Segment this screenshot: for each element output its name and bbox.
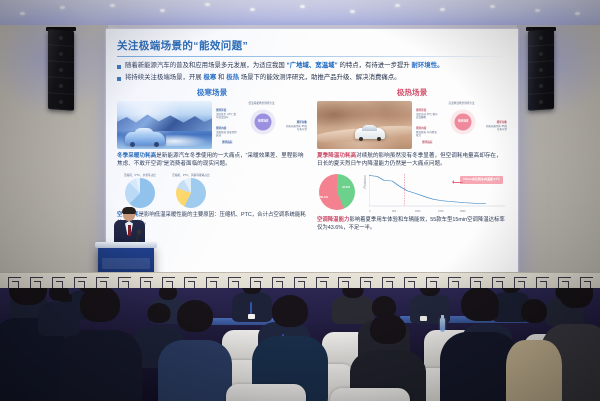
hot-line-annotation: 15min末达到车内温度 24℃ (460, 176, 503, 184)
snow-spray (166, 134, 208, 146)
hot-x-tick-3: 2700 (438, 210, 444, 213)
audience-member (58, 330, 142, 401)
cold-hub-label: 极寒场景 (255, 114, 272, 131)
photo-winter-ev (117, 101, 212, 149)
cold-tag-2: 测评内容 采暖能耗 续驶里程衰减 (216, 127, 238, 136)
panel-cold-heading: 极寒场景 (117, 87, 307, 98)
cold-tag-3: 测评对象 纯电动乘用车 55款在售车型 (285, 121, 307, 130)
bullet-2-pre: 将持续关注极端场景，开展 (125, 74, 202, 81)
bullet-2-post: 场景下的能效测评研究，助推产品升级、解决消费痛点。 (241, 74, 401, 81)
bullet-2-highlight-2: 极热 (226, 74, 239, 81)
hot-tag-1: 测评环境 温度高达 40℃ 整车高温暴晒 (416, 109, 438, 118)
hot-line-chart: 车内温度 / ℃ 15min末达到车内温度 24℃ (362, 173, 507, 213)
hot-footnote: 空调降温能力影响着夏季用车体验和车辆能效，55款车型15min空调降温达标率仅为… (317, 217, 507, 232)
hot-tag-2: 测评内容 降温能耗 车内降温能力 (416, 127, 438, 136)
ceiling (0, 0, 600, 26)
hot-footnote-bold: 空调降温能力 (317, 217, 349, 223)
hot-method-diagram: 高温降温场景测评方法 测评环境 温度高达 40℃ 整车高温暴晒 测评内容 降温能… (416, 101, 507, 149)
white-ev-car (355, 128, 385, 139)
hot-pie-label-fail: 56.4% (320, 195, 328, 199)
presenter-hair (122, 207, 136, 214)
hot-hub-label: 极热场景 (455, 114, 472, 131)
hot-pie-label-pass: 43.6% (342, 185, 350, 189)
audience-member (506, 340, 562, 401)
scenario-panels: 极寒场景 低温采暖场景测评方法 测评环境 温度低至 -20℃ 整车低温浸车 (117, 87, 507, 232)
hot-x-tick-0: 0 (369, 210, 370, 213)
bullet-1-highlight: “广地域、宽温域” (287, 62, 338, 69)
cold-pie-1: 压缩机、PTC、水泵等占比 (117, 173, 163, 208)
slide-content: 关注极端场景的“能效问题” 随着新能源汽车的普及和应用场景多元发展，为适应我国 … (106, 29, 518, 285)
bullet-marker-icon (117, 65, 121, 69)
panel-hot-heading: 极热场景 (317, 87, 507, 98)
hot-note: 夏季降温功耗高对续航的影响虽然没有冬季显著，但空调耗电量高却存在，日长的夏天烈日… (317, 153, 507, 168)
audience-member (158, 340, 232, 401)
bullet-1-pre: 随着新能源汽车的普及和应用场景多元发展，为适应我国 (125, 62, 285, 69)
cold-pie-1-disc (125, 178, 155, 208)
blue-ev-car (125, 132, 165, 145)
hot-line-ylabel: 车内温度 / ℃ (362, 175, 366, 207)
hot-x-tick-4: 3600 (460, 210, 466, 213)
title-divider (117, 56, 507, 57)
hot-charts: 43.6% 56.4% 车内温度 / ℃ (317, 173, 507, 213)
hot-x-tick-2: 1800 (415, 210, 421, 213)
projection-screen: 关注极端场景的“能效问题” 随着新能源汽车的普及和应用场景多元发展，为适应我国 … (106, 29, 518, 285)
bullet-2-mid: 和 (218, 74, 224, 81)
water-bottle (440, 318, 445, 332)
hot-x-tick-1: 900 (392, 210, 396, 213)
hot-tag-4: 测评指标 (422, 141, 444, 144)
photo-desert-ev (317, 101, 412, 149)
chair-back (330, 388, 410, 401)
cold-note: 冬季采暖功耗高是新能源汽车冬季使用的一大痛点，“采暖效果差、里程影响焦虑、不敢开… (117, 153, 307, 168)
cold-pie-1-label: 压缩机、PTC、水泵等占比 (117, 173, 163, 177)
panel-extreme-heat: 极热场景 高温降温场景测评方法 测评环境 温度高达 40℃ 整车高温暴晒 (317, 87, 507, 232)
bullet-marker-icon (117, 77, 121, 81)
slide-bullet-1: 随着新能源汽车的普及和应用场景多元发展，为适应我国 “广地域、宽温域” 的特点，… (117, 62, 507, 71)
hot-pie-disc (319, 174, 355, 210)
cold-pie-2-disc (176, 178, 206, 208)
line-array-speaker-right (528, 29, 554, 111)
slide-bullet-2: 将持续关注极端场景，开展 极寒 和 极热 场景下的能效测评研究，助推产品升级、解… (117, 74, 507, 83)
camera-operator (38, 302, 80, 336)
bullet-1-mid: 的特点，有待进一步提升 (339, 62, 409, 69)
podium-banner (102, 258, 150, 269)
hot-pie-achievement-rate: 43.6% 56.4% (317, 173, 357, 210)
lanyard (250, 302, 252, 314)
hot-tag-3: 测评对象 纯电动乘用车 55款在售车型 (485, 121, 507, 130)
audience-member (332, 296, 374, 324)
presenter-tie (128, 225, 131, 236)
name-badge (420, 316, 427, 321)
cold-pie-2: 压缩机、PTC、风扇等能耗占比 (168, 173, 214, 208)
cold-method-diagram: 低温采暖场景测评方法 测评环境 温度低至 -20℃ 整车低温浸车 测评内容 采暖… (216, 101, 307, 149)
hot-note-bold: 夏季降温功耗高 (317, 153, 356, 159)
bullet-1-highlight-2: 耐环境性。 (412, 62, 444, 69)
slide-title: 关注极端场景的“能效问题” (117, 38, 507, 53)
chair-back (226, 384, 306, 401)
conference-hall-scene: 关注极端场景的“能效问题” 随着新能源汽车的普及和应用场景多元发展，为适应我国 … (0, 0, 600, 401)
mountain-silhouette (117, 111, 212, 131)
cold-tag-1: 测评环境 温度低至 -20℃ 整车低温浸车 (216, 109, 238, 118)
line-array-speaker-left (48, 29, 74, 111)
cold-pie-2-label: 压缩机、PTC、风扇等能耗占比 (168, 173, 214, 177)
name-badge (248, 314, 255, 319)
cold-note-bold: 冬季采暖功耗高 (117, 153, 156, 159)
cold-tag-4: 测评指标 (222, 141, 244, 144)
audience-area (0, 288, 600, 401)
annotation-arrow-icon (453, 182, 463, 183)
bullet-2-highlight: 极寒 (203, 74, 216, 81)
cold-diagram-caption: 低温采暖场景测评方法 (216, 101, 307, 105)
cold-charts: 压缩机、PTC、水泵等占比 压缩机、PTC、风扇等能耗占比 (117, 173, 307, 208)
podium-top (95, 242, 157, 248)
hot-diagram-caption: 高温降温场景测评方法 (416, 101, 507, 105)
